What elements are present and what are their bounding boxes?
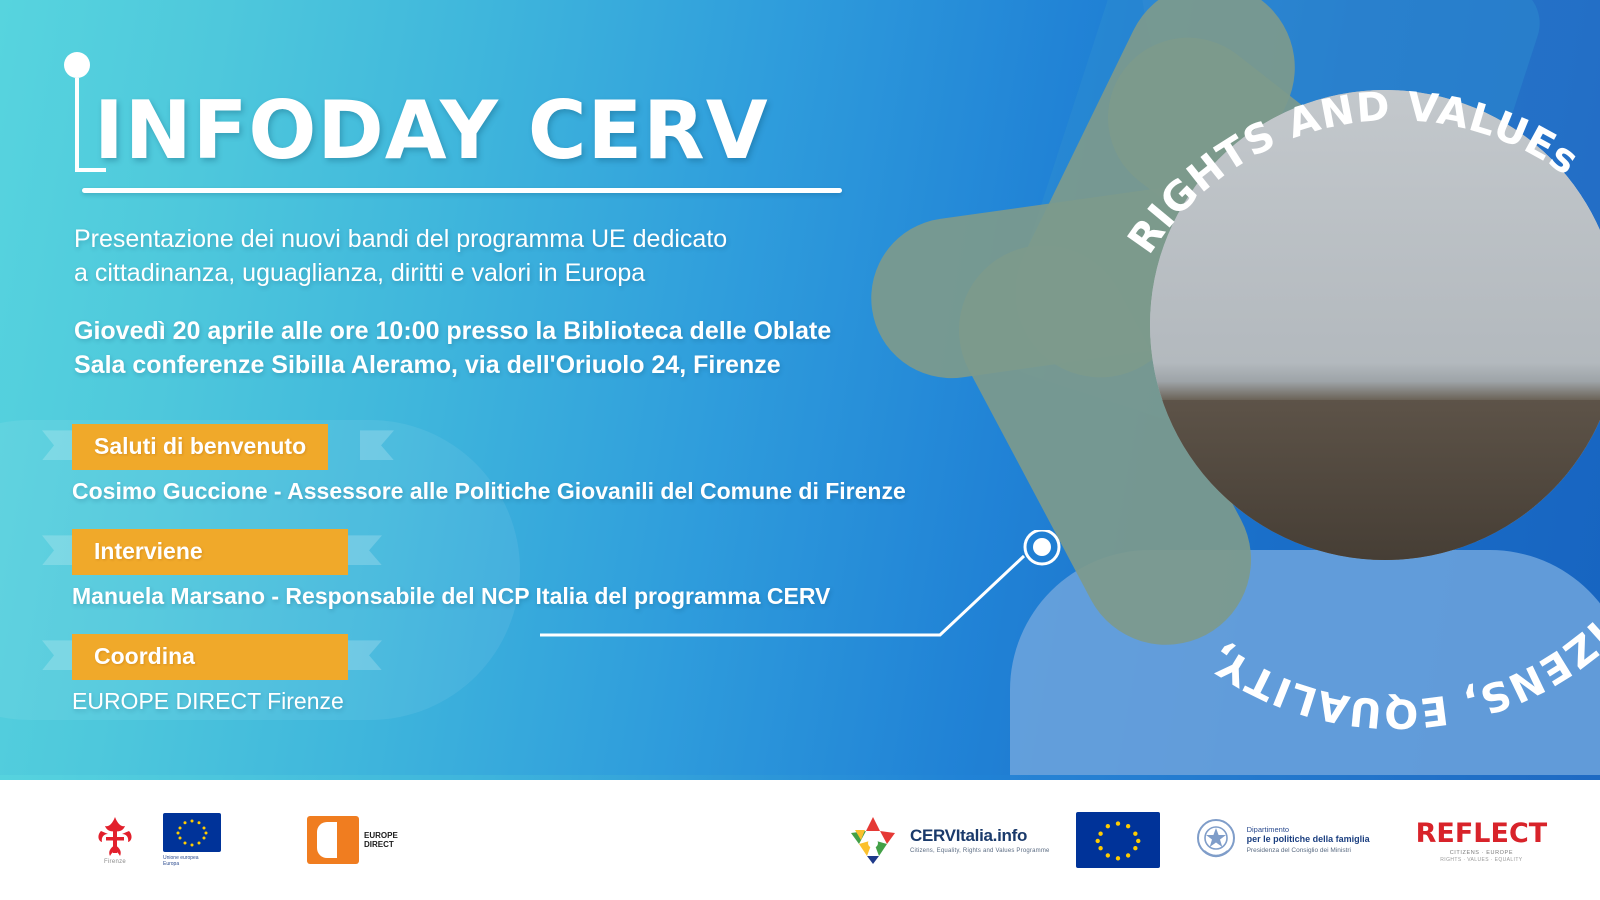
session-item: Coordina EUROPE DIRECT Firenze	[72, 634, 1012, 715]
europe-direct-line-1: EUROPE	[364, 831, 398, 840]
ribbon-right-icon	[348, 535, 382, 565]
cervitalia-pinwheel-icon	[845, 813, 901, 867]
event-venue: Sala conferenze Sibilla Aleramo, via del…	[74, 348, 1012, 382]
giglio-fleur-de-lis-icon	[95, 815, 135, 857]
session-badge-wrap: Interviene	[72, 529, 1012, 571]
session-item: Saluti di benvenuto Cosimo Guccione - As…	[72, 424, 1012, 505]
eu-stars-icon	[1076, 812, 1160, 868]
eu-flag-caption-2: Europa	[163, 861, 221, 867]
logo-europe-direct: EUROPE DIRECT	[307, 816, 398, 864]
europe-direct-line-2: DIRECT	[364, 840, 398, 849]
session-speaker: EUROPE DIRECT Firenze	[72, 688, 1012, 715]
subtitle-line-2: a cittadinanza, uguaglianza, diritti e v…	[74, 257, 1012, 291]
logo-eu-flag-left: Unione europea Europa	[163, 813, 221, 868]
reflect-wordmark: REFLECT	[1416, 818, 1548, 849]
dipartimento-text: Dipartimento per le politiche della fami…	[1247, 825, 1370, 855]
session-item: Interviene Manuela Marsano - Responsabil…	[72, 529, 1012, 610]
reflect-tagline-2: RIGHTS · VALUES · EQUALITY	[1440, 857, 1522, 863]
eu-stars-icon	[163, 813, 221, 852]
ribbon-right-icon	[360, 430, 394, 460]
circular-text-top: RIGHTS AND VALUEs	[1119, 84, 1587, 262]
session-badge: Saluti di benvenuto	[72, 424, 328, 470]
circular-text-bottom: CITIZENS, EQUALITY,	[1200, 556, 1600, 736]
eu-flag-icon	[1076, 812, 1160, 868]
page-title: INFODAY CERV	[94, 92, 1012, 170]
footer-logo-bar: Firenze Unione europe	[0, 780, 1600, 900]
logo-comune-di-firenze: Firenze	[95, 815, 135, 865]
poster-root: RIGHTS AND VALUEs CITIZENS, EQUALITY, IN…	[0, 0, 1600, 900]
session-badge-wrap: Coordina	[72, 634, 1012, 676]
footer-logos-left: Firenze Unione europe	[95, 813, 398, 868]
reflect-tagline-1: CITIZENS · EUROPE	[1450, 850, 1513, 856]
dipartimento-line-3: Presidenza del Consiglio dei Ministri	[1247, 847, 1370, 855]
logo-eu-flag-right	[1076, 812, 1160, 868]
session-badge-wrap: Saluti di benvenuto	[72, 424, 1012, 466]
footer-logos-right: CERVItalia.info Citizens, Equality, Righ…	[845, 812, 1547, 868]
europe-direct-text: EUROPE DIRECT	[364, 831, 398, 849]
circular-slogan-text: RIGHTS AND VALUEs CITIZENS, EQUALITY,	[1050, 0, 1600, 750]
session-speaker: Cosimo Guccione - Assessore alle Politic…	[72, 478, 1012, 505]
event-datetime: Giovedì 20 aprile alle ore 10:00 presso …	[74, 314, 1012, 348]
logo-reflect: REFLECT CITIZENS · EUROPE RIGHTS · VALUE…	[1416, 818, 1548, 863]
republic-emblem-icon	[1194, 817, 1238, 864]
subtitle: Presentazione dei nuovi bandi del progra…	[74, 223, 1012, 290]
dipartimento-line-1: Dipartimento	[1247, 825, 1370, 834]
event-when-where: Giovedì 20 aprile alle ore 10:00 presso …	[74, 314, 1012, 382]
cervitalia-name: CERVItalia.info	[910, 826, 1050, 846]
eu-flag-icon	[163, 813, 221, 852]
sessions-list: Saluti di benvenuto Cosimo Guccione - As…	[72, 424, 1012, 715]
subtitle-line-1: Presentazione dei nuovi bandi del progra…	[74, 223, 1012, 257]
cervitalia-tagline: Citizens, Equality, Rights and Values Pr…	[910, 848, 1050, 854]
dipartimento-line-2: per le politiche della famiglia	[1247, 834, 1370, 845]
title-underline	[82, 188, 842, 193]
session-badge: Interviene	[72, 529, 348, 575]
logo-dipartimento-politiche-famiglia: Dipartimento per le politiche della fami…	[1194, 817, 1370, 864]
logo-cervitalia: CERVItalia.info Citizens, Equality, Righ…	[845, 813, 1050, 867]
session-badge: Coordina	[72, 634, 348, 680]
ribbon-right-icon	[348, 640, 382, 670]
poster-content: INFODAY CERV Presentazione dei nuovi ban…	[72, 60, 1012, 739]
cervitalia-text: CERVItalia.info Citizens, Equality, Righ…	[910, 826, 1050, 854]
europe-direct-mark-icon	[307, 816, 359, 864]
session-speaker: Manuela Marsano - Responsabile del NCP I…	[72, 583, 1012, 610]
logo-caption: Firenze	[104, 859, 126, 865]
